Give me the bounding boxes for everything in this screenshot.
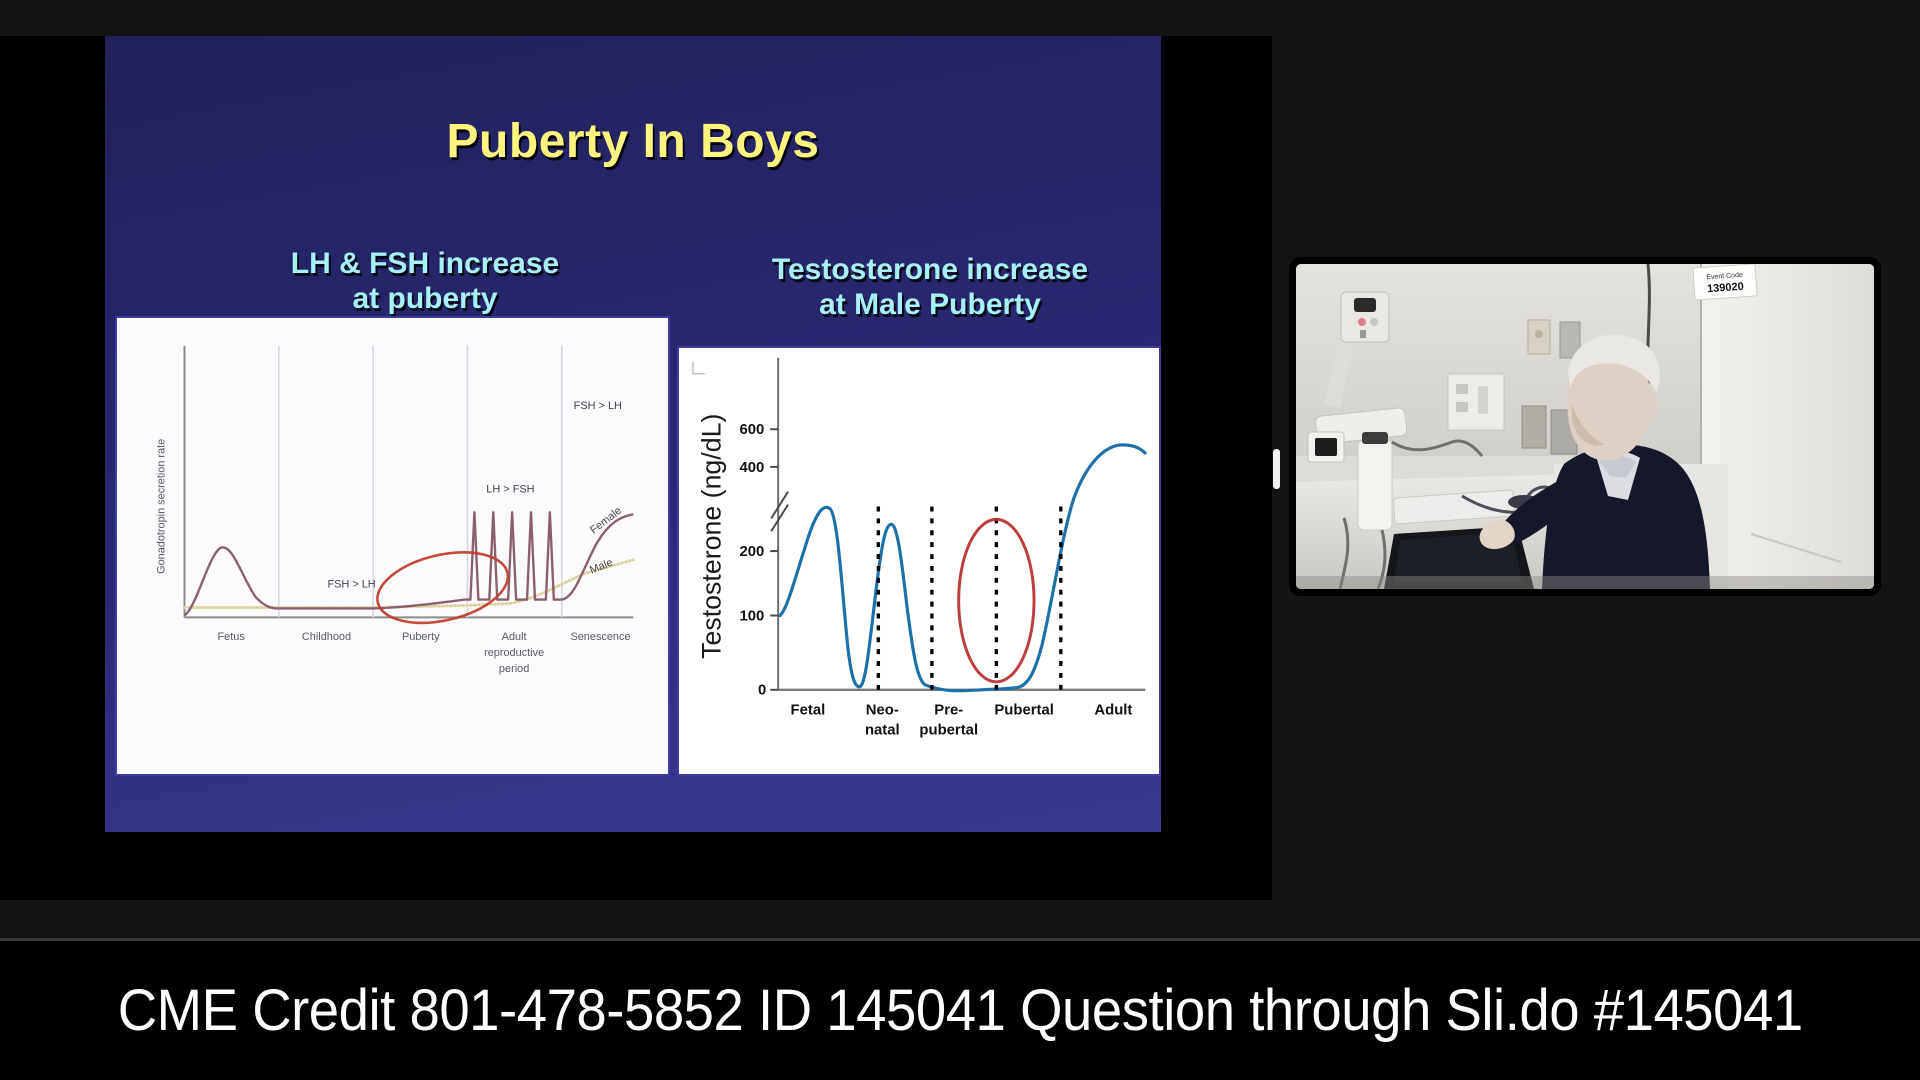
slide-subtitle-right-line2: at Male Puberty bbox=[680, 287, 1161, 322]
slide-title: Puberty In Boys bbox=[105, 114, 1161, 169]
slide-subtitle-left-line1: LH & FSH increase bbox=[195, 246, 655, 281]
testosterone-ytick-100: 100 bbox=[739, 608, 764, 624]
bottom-letterbox bbox=[0, 900, 1920, 938]
testosterone-xtick-1a: Neo- bbox=[866, 703, 899, 719]
testosterone-ytick-600: 600 bbox=[739, 422, 764, 438]
gonadotropin-xtick-3b: reproductive bbox=[484, 647, 544, 659]
caption-bar: CME Credit 801-478-5852 ID 145041 Questi… bbox=[0, 941, 1920, 1080]
panel-resize-handle[interactable] bbox=[1272, 448, 1281, 490]
wall-sign-line2: 139020 bbox=[1707, 281, 1744, 296]
gonadotropin-xtick-0: Fetus bbox=[218, 631, 246, 643]
slide-subtitle-right-line1: Testosterone increase bbox=[680, 252, 1161, 287]
presenter-video-thumbnail[interactable]: Event Code 139020 bbox=[1290, 258, 1880, 595]
testosterone-xtick-2a: Pre- bbox=[934, 703, 963, 719]
slide-subtitle-left-line2: at puberty bbox=[195, 281, 655, 316]
gonadotropin-xtick-1: Childhood bbox=[302, 631, 351, 643]
annotation-lh-gt-fsh: LH > FSH bbox=[486, 483, 534, 495]
wall-sign: Event Code 139020 bbox=[1693, 264, 1757, 300]
slide-subtitle-right: Testosterone increase at Male Puberty bbox=[680, 252, 1161, 323]
gonadotropin-y-axis-label: Gonadotropin secretion rate bbox=[156, 439, 168, 574]
annotation-fsh-gt-lh-senescence: FSH > LH bbox=[574, 400, 622, 412]
gonadotropin-xtick-3a: Adult bbox=[502, 631, 527, 643]
top-letterbox bbox=[0, 0, 1920, 36]
testosterone-chart-panel: 600 400 200 100 0 Testosterone (ng/dL) bbox=[677, 346, 1161, 776]
testosterone-chart-svg: 600 400 200 100 0 Testosterone (ng/dL) bbox=[679, 348, 1159, 774]
caption-text: CME Credit 801-478-5852 ID 145041 Questi… bbox=[118, 977, 1803, 1044]
testosterone-xtick-0: Fetal bbox=[791, 703, 826, 719]
screen-root: Puberty In Boys LH & FSH increase at pub… bbox=[0, 0, 1920, 1080]
gonadotropin-chart-panel: Gonadotropin secretion rate FSH > LH LH … bbox=[115, 316, 670, 776]
gonadotropin-xtick-4: Senescence bbox=[570, 631, 630, 643]
testosterone-ytick-0: 0 bbox=[758, 683, 766, 699]
testosterone-xtick-1b: natal bbox=[865, 722, 900, 738]
testosterone-xtick-2b: pubertal bbox=[919, 722, 978, 738]
testosterone-xtick-3: Pubertal bbox=[994, 703, 1053, 719]
presenter-video-frame: Event Code 139020 bbox=[1296, 264, 1874, 589]
presenter-video-image: Event Code 139020 bbox=[1296, 264, 1874, 589]
testosterone-ytick-200: 200 bbox=[739, 544, 764, 560]
testosterone-ytick-400: 400 bbox=[739, 460, 764, 476]
gonadotropin-xtick-2: Puberty bbox=[402, 631, 440, 643]
slide: Puberty In Boys LH & FSH increase at pub… bbox=[105, 36, 1161, 832]
slide-subtitle-left: LH & FSH increase at puberty bbox=[195, 246, 655, 317]
gonadotropin-xtick-3c: period bbox=[499, 663, 529, 675]
gonadotropin-chart-svg: Gonadotropin secretion rate FSH > LH LH … bbox=[117, 318, 668, 774]
annotation-fsh-gt-lh-child: FSH > LH bbox=[327, 579, 375, 591]
testosterone-y-axis-label: Testosterone (ng/dL) bbox=[697, 414, 727, 659]
video-canvas[interactable]: Puberty In Boys LH & FSH increase at pub… bbox=[0, 36, 1272, 900]
testosterone-xtick-4: Adult bbox=[1094, 703, 1132, 719]
presentation-stage[interactable]: Puberty In Boys LH & FSH increase at pub… bbox=[0, 36, 1920, 938]
